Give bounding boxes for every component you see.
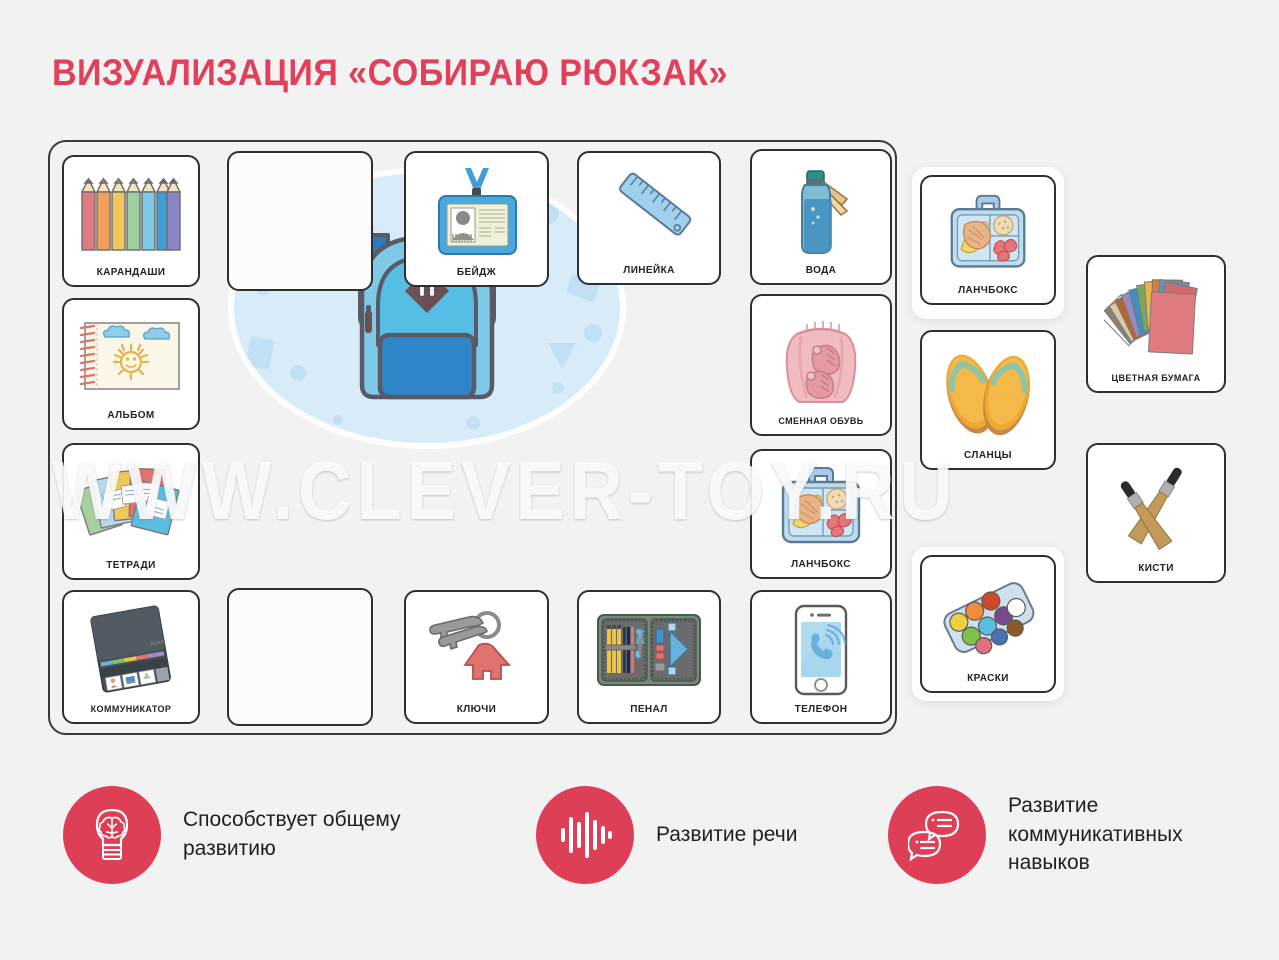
- card-album[interactable]: АЛЬБОМ: [62, 298, 200, 430]
- ruler-icon: [579, 153, 719, 264]
- card-colored-paper[interactable]: ЦВЕТНАЯ БУМАГА: [1086, 255, 1226, 393]
- card-label: КАРАНДАШИ: [64, 266, 198, 285]
- card-label: КОММУНИКАТОР: [64, 704, 198, 722]
- lunchbox-icon: [922, 177, 1054, 284]
- card-label: [229, 716, 371, 724]
- water-bottle-icon: [752, 151, 890, 264]
- card-label: ЛАНЧБОКС: [922, 284, 1054, 303]
- card-keys[interactable]: КЛЮЧИ: [404, 590, 549, 724]
- feature-speech-development: Развитие речи: [536, 786, 797, 884]
- feature-list: Способствует общему развитию Развитие: [0, 778, 1279, 928]
- sketch-album-icon: [64, 300, 198, 409]
- card-ruler[interactable]: ЛИНЕЙКА: [577, 151, 721, 285]
- blank-slot: [229, 590, 371, 716]
- feature-communication-skills: Развитие коммуникативных навыков: [888, 786, 1258, 884]
- card-label: КРАСКИ: [922, 672, 1054, 691]
- card-communicator[interactable]: ALMA КОММУНИКАТОР: [62, 590, 200, 724]
- sound-wave-icon: [536, 786, 634, 884]
- page-title: ВИЗУАЛИЗАЦИЯ «СОБИРАЮ РЮКЗАК»: [52, 52, 728, 94]
- card-blank-slot-1[interactable]: [227, 151, 373, 291]
- card-blank-slot-2[interactable]: [227, 588, 373, 726]
- card-label: СМЕННАЯ ОБУВЬ: [752, 416, 890, 434]
- keys-icon: [406, 592, 547, 703]
- feature-label: Развитие коммуникативных навыков: [1008, 792, 1258, 879]
- card-label: ВОДА: [752, 264, 890, 283]
- card-flip-flops[interactable]: СЛАНЦЫ: [920, 330, 1056, 470]
- notebooks-icon: [64, 445, 198, 559]
- card-pencil-case[interactable]: ПЕНАЛ: [577, 590, 721, 724]
- communicator-device-icon: ALMA: [64, 592, 198, 704]
- card-label: КЛЮЧИ: [406, 703, 547, 722]
- card-badge[interactable]: БЕЙДЖ: [404, 151, 549, 287]
- flip-flops-icon: [922, 332, 1054, 449]
- card-label: СЛАНЦЫ: [922, 449, 1054, 468]
- id-badge-icon: [406, 153, 547, 266]
- card-phone[interactable]: ТЕЛЕФОН: [750, 590, 892, 724]
- card-label: ПЕНАЛ: [579, 703, 719, 722]
- card-change-shoes[interactable]: СМЕННАЯ ОБУВЬ: [750, 294, 892, 436]
- shoe-bag-icon: [752, 296, 890, 416]
- card-label: ЛАНЧБОКС: [752, 558, 890, 577]
- feature-label: Развитие речи: [656, 821, 797, 850]
- watercolor-paints-icon: [922, 557, 1054, 672]
- card-pencils[interactable]: КАРАНДАШИ: [62, 155, 200, 287]
- card-label: ТЕЛЕФОН: [752, 703, 890, 722]
- pencil-case-icon: [579, 592, 719, 703]
- card-label: ТЕТРАДИ: [64, 559, 198, 578]
- feature-general-development: Способствует общему развитию: [63, 786, 433, 884]
- card-brushes[interactable]: КИСТИ: [1086, 443, 1226, 583]
- blank-slot: [229, 153, 371, 281]
- card-notebooks[interactable]: ТЕТРАДИ: [62, 443, 200, 580]
- card-lunchbox-side[interactable]: ЛАНЧБОКС: [920, 175, 1056, 305]
- feature-label: Способствует общему развитию: [183, 806, 433, 864]
- card-water[interactable]: ВОДА: [750, 149, 892, 285]
- brain-bulb-icon: [63, 786, 161, 884]
- poster-root: ВИЗУАЛИЗАЦИЯ «СОБИРАЮ РЮКЗАК»: [0, 0, 1279, 960]
- card-label: КИСТИ: [1088, 562, 1224, 581]
- colored-pencils-icon: [64, 157, 198, 266]
- lunchbox-icon: [752, 451, 890, 558]
- card-label: БЕЙДЖ: [406, 266, 547, 285]
- card-label: [229, 281, 371, 289]
- card-paints[interactable]: КРАСКИ: [920, 555, 1056, 693]
- card-lunchbox-board[interactable]: ЛАНЧБОКС: [750, 449, 892, 579]
- colored-paper-icon: [1088, 257, 1224, 373]
- smartphone-icon: [752, 592, 890, 703]
- paint-brushes-icon: [1088, 445, 1224, 562]
- card-label: ЦВЕТНАЯ БУМАГА: [1088, 373, 1224, 391]
- speech-bubbles-icon: [888, 786, 986, 884]
- card-label: ЛИНЕЙКА: [579, 264, 719, 283]
- card-label: АЛЬБОМ: [64, 409, 198, 428]
